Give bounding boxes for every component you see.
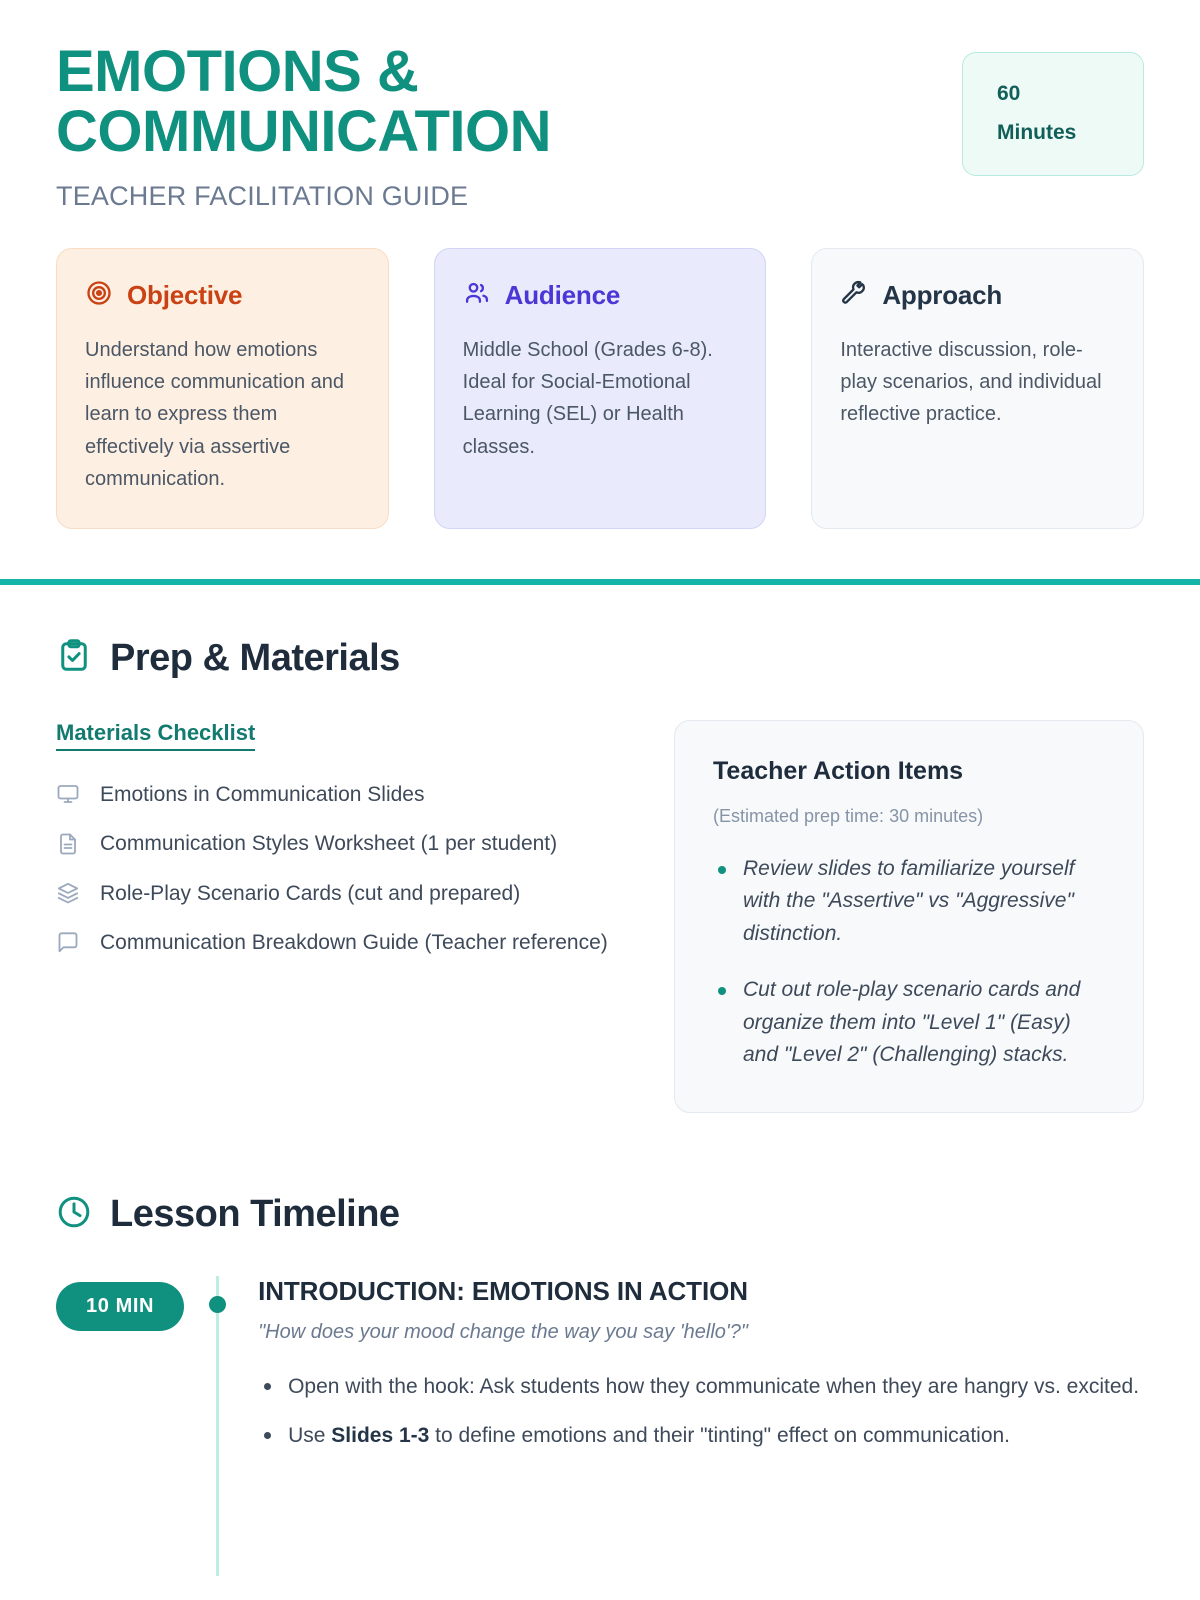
timeline-section-header: Lesson Timeline xyxy=(56,1193,1144,1236)
objective-card: Objective Understand how emotions influe… xyxy=(56,248,389,529)
list-item: Communication Breakdown Guide (Teacher r… xyxy=(56,927,618,959)
timeline-entry-title: INTRODUCTION: EMOTIONS IN ACTION xyxy=(258,1276,1144,1307)
action-panel-prep-time: (Estimated prep time: 30 minutes) xyxy=(713,806,1105,827)
clock-icon xyxy=(56,1194,92,1235)
monitor-icon xyxy=(56,782,82,806)
action-panel-title: Teacher Action Items xyxy=(713,757,1105,786)
material-label: Role-Play Scenario Cards (cut and prepar… xyxy=(100,878,520,910)
list-item: Communication Styles Worksheet (1 per st… xyxy=(56,828,618,860)
page-header: EMOTIONS & COMMUNICATION TEACHER FACILIT… xyxy=(0,0,1200,212)
timeline-line xyxy=(216,1276,219,1576)
objective-card-body: Understand how emotions influence commun… xyxy=(85,334,360,496)
prep-materials-section: Prep & Materials Materials Checklist Emo… xyxy=(0,585,1200,1113)
duration-unit: Minutes xyxy=(997,114,1143,153)
prep-columns: Materials Checklist Emotions in Communic… xyxy=(56,720,1144,1113)
duration-value: 60 xyxy=(997,75,1143,114)
timeline-rail xyxy=(190,1276,246,1536)
audience-card: Audience Middle School (Grades 6-8). Ide… xyxy=(434,248,767,529)
timeline-bullet: Open with the hook: Ask students how the… xyxy=(258,1370,1144,1404)
list-item: Emotions in Communication Slides xyxy=(56,779,618,811)
timeline-dot xyxy=(209,1296,226,1313)
users-icon xyxy=(463,279,491,312)
action-item: Review slides to familiarize yourself wi… xyxy=(713,853,1105,951)
approach-card-header: Approach xyxy=(840,279,1115,312)
bullet-bold: Slides 1-3 xyxy=(331,1424,429,1447)
action-items-column: Teacher Action Items (Estimated prep tim… xyxy=(674,720,1144,1113)
prep-section-title: Prep & Materials xyxy=(110,637,400,680)
target-icon xyxy=(85,279,113,312)
list-item: Role-Play Scenario Cards (cut and prepar… xyxy=(56,878,618,910)
timeline-entry: 10 MIN INTRODUCTION: EMOTIONS IN ACTION … xyxy=(56,1276,1144,1536)
approach-card: Approach Interactive discussion, role-pl… xyxy=(811,248,1144,529)
action-item-list: Review slides to familiarize yourself wi… xyxy=(713,853,1105,1072)
duration-badge: 60 Minutes xyxy=(962,52,1144,176)
timeline-entry-quote: "How does your mood change the way you s… xyxy=(258,1321,1144,1344)
wrench-icon xyxy=(840,279,868,312)
teacher-action-items-panel: Teacher Action Items (Estimated prep tim… xyxy=(674,720,1144,1113)
materials-column: Materials Checklist Emotions in Communic… xyxy=(56,720,618,977)
file-text-icon xyxy=(56,832,82,856)
header-text-block: EMOTIONS & COMMUNICATION TEACHER FACILIT… xyxy=(56,42,696,212)
message-square-icon xyxy=(56,931,82,955)
approach-card-body: Interactive discussion, role-play scenar… xyxy=(840,334,1115,431)
material-label: Communication Styles Worksheet (1 per st… xyxy=(100,828,557,860)
material-label: Emotions in Communication Slides xyxy=(100,779,424,811)
objective-card-header: Objective xyxy=(85,279,360,312)
approach-card-title: Approach xyxy=(882,280,1002,311)
action-item: Cut out role-play scenario cards and org… xyxy=(713,974,1105,1072)
objective-card-title: Objective xyxy=(127,280,242,311)
page-subtitle: TEACHER FACILITATION GUIDE xyxy=(56,181,696,212)
audience-card-title: Audience xyxy=(505,280,620,311)
audience-card-body: Middle School (Grades 6-8). Ideal for So… xyxy=(463,334,738,464)
materials-checklist-label: Materials Checklist xyxy=(56,720,255,751)
bullet-prefix: Use xyxy=(288,1424,331,1447)
timeline-duration-badge: 10 MIN xyxy=(56,1282,184,1331)
bullet-suffix: to define emotions and their "tinting" e… xyxy=(429,1424,1010,1447)
layers-icon xyxy=(56,881,82,905)
timeline-bullet-list: Open with the hook: Ask students how the… xyxy=(258,1370,1144,1453)
timeline-section-title: Lesson Timeline xyxy=(110,1193,400,1236)
clipboard-check-icon xyxy=(56,638,92,679)
timeline-entry-content: INTRODUCTION: EMOTIONS IN ACTION "How do… xyxy=(252,1276,1144,1469)
prep-section-header: Prep & Materials xyxy=(56,637,1144,680)
facilitation-guide-page: EMOTIONS & COMMUNICATION TEACHER FACILIT… xyxy=(0,0,1200,1600)
page-title: EMOTIONS & COMMUNICATION xyxy=(56,42,696,163)
audience-card-header: Audience xyxy=(463,279,738,312)
bullet-prefix: Open with the hook: Ask students how the… xyxy=(288,1375,1139,1398)
info-cards: Objective Understand how emotions influe… xyxy=(0,212,1200,529)
lesson-timeline-section: Lesson Timeline 10 MIN INTRODUCTION: EMO… xyxy=(0,1113,1200,1536)
material-label: Communication Breakdown Guide (Teacher r… xyxy=(100,927,608,959)
timeline-bullet: Use Slides 1-3 to define emotions and th… xyxy=(258,1419,1144,1453)
